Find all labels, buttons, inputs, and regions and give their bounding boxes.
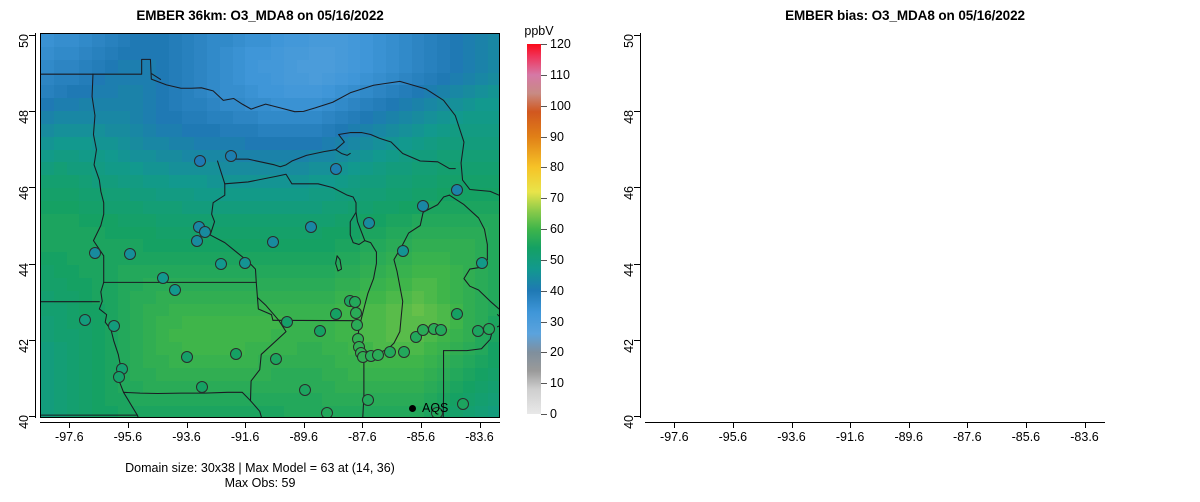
colorbar-tick-label: 50 [550,253,564,267]
boundary-path [231,133,456,169]
observation-point[interactable] [362,394,374,406]
x-tick [69,422,70,428]
colorbar-tick-label: 120 [550,37,571,51]
boundary-path [250,401,288,417]
colorbar-tick [541,414,547,415]
x-tick-label: -87.6 [942,430,992,444]
observation-point[interactable] [169,284,181,296]
x-tick [304,422,305,428]
y-tick-label: 40 [17,415,31,449]
observation-point[interactable] [157,272,169,284]
x-tick [362,422,363,428]
x-tick [909,422,910,428]
y-tick-label: 50 [622,34,636,68]
colorbar-tick [541,167,547,168]
observation-point[interactable] [239,257,251,269]
observation-point[interactable] [330,163,342,175]
colorbar-tick [541,322,547,323]
colorbar-tick-label: 10 [550,376,564,390]
boundary-path [225,174,356,212]
y-tick-label: 48 [622,110,636,144]
bias-panel: EMBER bias: O3_MDA8 on 05/16/2022 AQS -9… [600,0,1200,502]
y-tick-label: 50 [17,34,31,68]
x-tick-label: -83.6 [1060,430,1110,444]
aqs-legend: AQS [409,401,448,415]
observation-point[interactable] [281,316,293,328]
y-tick-label: 44 [622,263,636,297]
observation-point[interactable] [314,325,326,337]
colorbar-tick-label: 0 [550,407,557,421]
x-tick [733,422,734,428]
x-tick-label: -93.6 [767,430,817,444]
boundary-path [350,212,365,244]
aqs-dot-icon [409,405,416,412]
observation-point[interactable] [435,324,447,336]
x-tick-label: -97.6 [44,430,94,444]
observation-point[interactable] [181,351,193,363]
y-tick-label: 46 [622,186,636,220]
x-tick-label: -89.6 [884,430,934,444]
x-tick [245,422,246,428]
x-tick [1085,422,1086,428]
observation-point[interactable] [305,221,317,233]
x-tick [967,422,968,428]
observation-point[interactable] [351,319,363,331]
x-tick [187,422,188,428]
x-tick [850,422,851,428]
colorbar-tick [541,198,547,199]
x-tick-label: -83.6 [455,430,505,444]
x-tick-label: -87.6 [337,430,387,444]
colorbar-tick [541,137,547,138]
observation-point[interactable] [89,247,101,259]
x-tick-label: -85.6 [1001,430,1051,444]
boundary-path [336,256,342,271]
colorbar-tick [541,229,547,230]
colorbar-tick-label: 70 [550,191,564,205]
boundary-path [210,161,273,320]
x-tick [480,422,481,428]
boundary-path [449,195,499,309]
boundary-path [152,74,161,80]
x-tick [674,422,675,428]
x-tick-label: -89.6 [279,430,329,444]
observation-point[interactable] [191,235,203,247]
colorbar-tick [541,291,547,292]
x-tick-label: -95.6 [708,430,758,444]
observation-point[interactable] [472,325,484,337]
y-tick-label: 44 [17,263,31,297]
observation-point[interactable] [194,155,206,167]
observation-point[interactable] [79,314,91,326]
colorbar-tick [541,75,547,76]
observation-point[interactable] [417,200,429,212]
colorbar-gradient [527,44,541,414]
x-tick-label: -91.6 [220,430,270,444]
colorbar-tick [541,383,547,384]
colorbar-tick-label: 110 [550,68,570,82]
x-tick-label: -91.6 [825,430,875,444]
bias-page-title: EMBER bias: O3_MDA8 on 05/16/2022 [645,8,1165,23]
x-tick [792,422,793,428]
colorbar-tick-label: 60 [550,222,564,236]
colorbar-tick [541,260,547,261]
x-tick-label: -97.6 [649,430,699,444]
boundary-path [41,59,499,195]
observation-point[interactable] [230,348,242,360]
observation-point[interactable] [398,346,410,358]
observation-point[interactable] [330,308,342,320]
model-map[interactable]: AQS [40,33,500,418]
colorbar-tick-label: 90 [550,130,564,144]
observation-point[interactable] [108,320,120,332]
observation-point[interactable] [457,398,469,410]
observation-point[interactable] [350,307,362,319]
observation-point[interactable] [349,296,361,308]
footer-line-1: Domain size: 30x38 | Max Model = 63 at (… [0,461,520,476]
observation-point[interactable] [476,257,488,269]
colorbar-tick [541,352,547,353]
observation-point[interactable] [384,346,396,358]
x-tick [1026,422,1027,428]
x-tick [128,422,129,428]
observation-point[interactable] [215,258,227,270]
model-panel: EMBER 36km: O3_MDA8 on 05/16/2022 AQS -9… [0,0,600,502]
observation-point[interactable] [267,236,279,248]
page-title: EMBER 36km: O3_MDA8 on 05/16/2022 [0,8,520,23]
y-tick-label: 42 [622,339,636,373]
footer-line-2: Max Obs: 59 [0,476,520,491]
observation-point[interactable] [299,384,311,396]
aqs-legend-label: AQS [422,401,448,415]
boundary-path [498,315,499,327]
colorbar-tick-label: 40 [550,284,564,298]
y-tick-label: 42 [17,339,31,373]
boundary-path [336,150,351,156]
colorbar-tick-label: 20 [550,345,564,359]
colorbar-tick [541,44,547,45]
boundary-path [124,392,158,417]
observation-point[interactable] [397,245,409,257]
x-tick [421,422,422,428]
y-tick-label: 48 [17,110,31,144]
colorbar-tick-label: 100 [550,99,571,113]
observation-point[interactable] [196,381,208,393]
colorbar-tick-label: 30 [550,315,564,329]
observation-point[interactable] [321,407,333,418]
colorbar-tick-label: 80 [550,160,564,174]
x-tick-label: -95.6 [103,430,153,444]
x-tick-label: -85.6 [396,430,446,444]
x-tick-label: -93.6 [162,430,212,444]
y-tick-label: 46 [17,186,31,220]
y-tick-label: 40 [622,415,636,449]
boundary-path [124,392,251,400]
observation-point[interactable] [363,217,375,229]
model-footer: Domain size: 30x38 | Max Model = 63 at (… [0,461,520,491]
colorbar-tick [541,106,547,107]
colorbar-unit-label: ppbV [516,24,562,38]
